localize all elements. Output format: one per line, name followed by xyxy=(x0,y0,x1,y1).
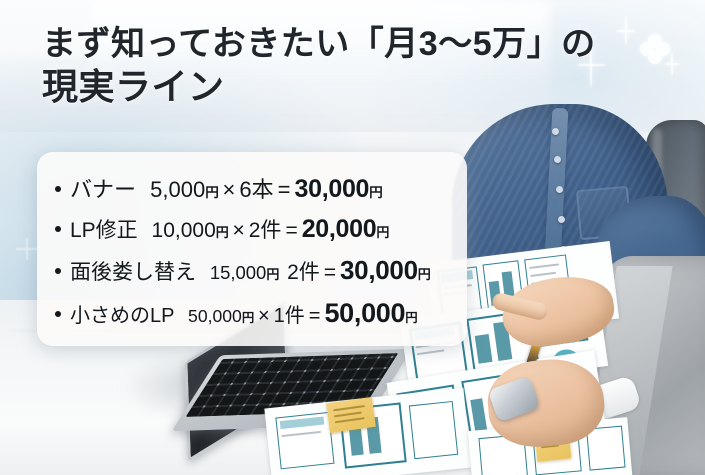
list-item: 面後娄し替え 15,000 円 2件 = 30,000 円 xyxy=(55,255,430,286)
bullet-icon xyxy=(55,311,61,317)
item-result-yen: 円 xyxy=(369,181,382,201)
item-quantity: 1件 xyxy=(274,299,305,328)
list-item: 小さめのLP 50,000 円 × 1件 = 50,000 円 xyxy=(55,298,417,329)
list-item-body: バナー 5,000 円 × 6本 = 30,000 円 xyxy=(70,172,383,204)
item-quantity: 2件 xyxy=(249,214,282,244)
item-unit-yen: 円 xyxy=(266,264,279,283)
item-equals-operator: = xyxy=(309,305,321,328)
shirt-button xyxy=(558,216,565,223)
shirt-button xyxy=(556,186,563,193)
price-list: バナー 5,000 円 × 6本 = 30,000 円 LP修正 10,000 xyxy=(37,152,467,346)
item-result: 50,000 xyxy=(324,298,405,329)
bullet-icon xyxy=(55,226,61,232)
item-result-yen: 円 xyxy=(376,222,389,241)
item-quantity: 2件 xyxy=(287,256,320,286)
bullet-icon xyxy=(55,186,61,192)
item-times-operator: × xyxy=(232,219,244,243)
item-label: LP修正 xyxy=(70,214,138,244)
item-unit-yen: 円 xyxy=(216,222,229,241)
sticky-note xyxy=(326,397,376,433)
bullet-icon xyxy=(55,268,61,274)
item-times-operator: × xyxy=(258,305,270,328)
item-label: 面後娄し替え xyxy=(70,256,196,286)
item-equals-operator: = xyxy=(324,261,336,285)
shirt-button xyxy=(552,128,559,135)
page-title: まず知っておきたい「月3〜5万」の 現実ライン xyxy=(42,24,602,109)
item-equals-operator: = xyxy=(285,219,297,243)
item-times-operator: × xyxy=(223,177,236,203)
item-quantity: 6本 xyxy=(239,172,273,204)
slide-canvas: まず知っておきたい「月3〜5万」の 現実ライン バナー 5,000 円 × 6本… xyxy=(0,0,705,475)
item-result: 30,000 xyxy=(340,255,418,286)
price-breakdown-card: バナー 5,000 円 × 6本 = 30,000 円 LP修正 10,000 xyxy=(37,152,467,346)
sparkle-icon xyxy=(16,238,38,260)
item-unit-price: 15,000 xyxy=(210,262,267,284)
clover-sparkle-icon xyxy=(640,34,670,64)
item-result: 30,000 xyxy=(295,175,370,204)
item-label: 小さめのLP xyxy=(70,299,174,328)
list-item: バナー 5,000 円 × 6本 = 30,000 円 xyxy=(55,172,383,204)
list-item-body: 面後娄し替え 15,000 円 2件 = 30,000 円 xyxy=(70,255,430,286)
item-unit-price: 50,000 xyxy=(188,306,242,327)
item-unit-price: 5,000 xyxy=(150,177,205,203)
item-result: 20,000 xyxy=(302,215,377,244)
item-equals-operator: = xyxy=(278,177,291,203)
item-result-yen: 円 xyxy=(405,308,417,326)
item-label: バナー xyxy=(70,172,136,204)
list-item-body: 小さめのLP 50,000 円 × 1件 = 50,000 円 xyxy=(70,298,417,329)
headline-line-1: まず知っておきたい「月3〜5万」の xyxy=(42,24,602,64)
item-unit-yen: 円 xyxy=(242,308,254,326)
item-unit-price: 10,000 xyxy=(152,219,216,243)
item-unit-yen: 円 xyxy=(205,181,218,201)
shirt-button xyxy=(554,156,561,163)
item-result-yen: 円 xyxy=(418,264,431,283)
headline-line-2: 現実ライン xyxy=(42,66,602,108)
list-item: LP修正 10,000 円 × 2件 = 20,000 円 xyxy=(55,214,389,244)
list-item-body: LP修正 10,000 円 × 2件 = 20,000 円 xyxy=(70,214,389,244)
sparkle-icon xyxy=(616,16,636,46)
